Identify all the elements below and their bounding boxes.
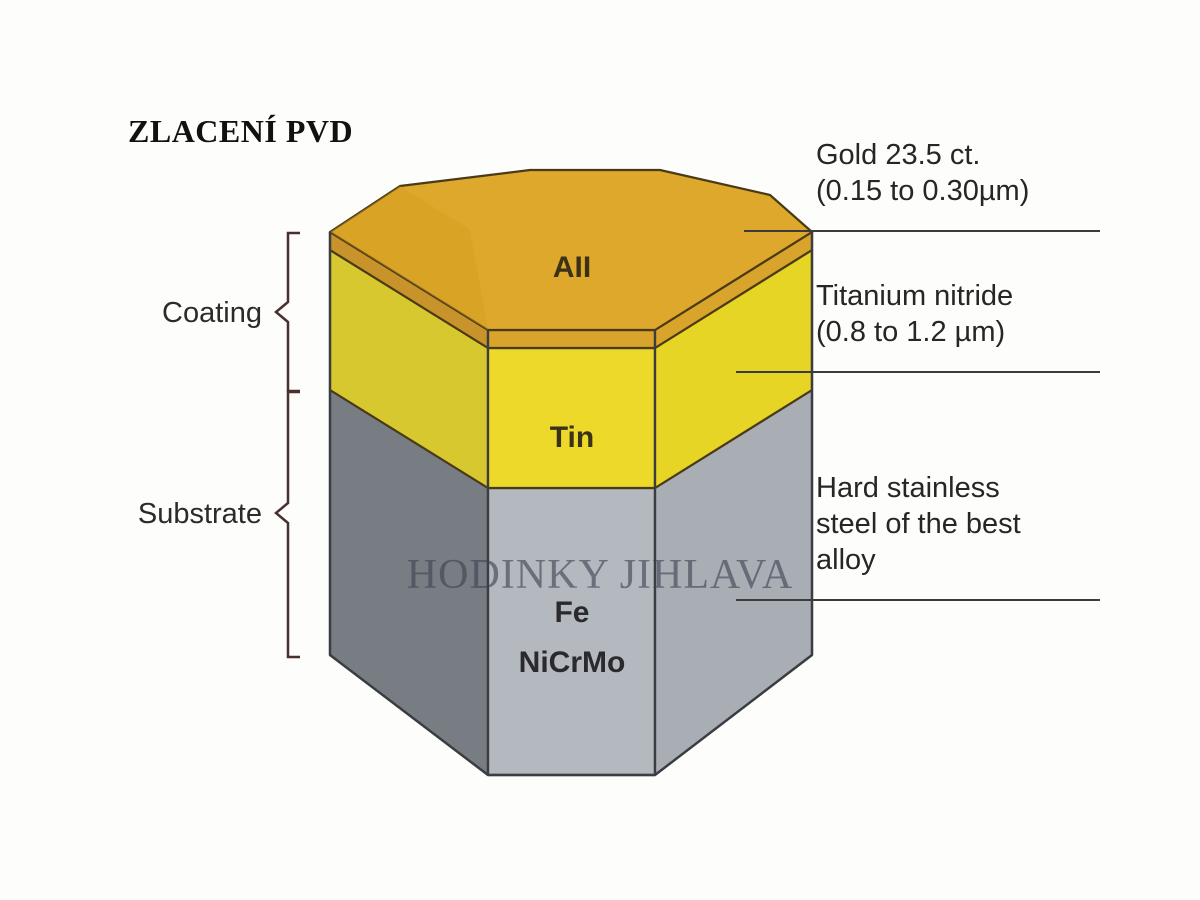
steel-callout-line1: Hard stainless xyxy=(816,472,1000,504)
substrate-layer-label-line2: NiCrMo xyxy=(519,646,626,679)
gold-band-front-face xyxy=(488,330,655,348)
page-title: ZLACENÍ PVD xyxy=(128,113,353,149)
substrate-front-face xyxy=(488,488,655,775)
substrate-layer-label-line1: Fe xyxy=(554,596,589,629)
tin-front-face xyxy=(488,348,655,488)
diagram-page: ZLACENÍ PVD xyxy=(0,0,1200,900)
gold-callout-line2: (0.15 to 0.30µm) xyxy=(816,175,1029,207)
steel-callout-line3: alloy xyxy=(816,544,876,576)
watermark: HODINKY JIHLAVA xyxy=(407,552,793,598)
gold-callout-line1: Gold 23.5 ct. xyxy=(816,139,980,171)
gold-layer-label: AII xyxy=(553,251,591,284)
pvd-coating-diagram: ZLACENÍ PVD xyxy=(0,0,1200,900)
coating-label: Coating xyxy=(162,297,262,329)
tin-layer-label: Tin xyxy=(550,421,594,454)
steel-callout-line2: steel of the best xyxy=(816,508,1021,540)
substrate-label: Substrate xyxy=(138,498,262,530)
tin-callout-line1: Titanium nitride xyxy=(816,280,1013,312)
tin-callout-line2: (0.8 to 1.2 µm) xyxy=(816,316,1005,348)
prism-graphic: AII Tin Fe NiCrMo xyxy=(330,170,812,775)
